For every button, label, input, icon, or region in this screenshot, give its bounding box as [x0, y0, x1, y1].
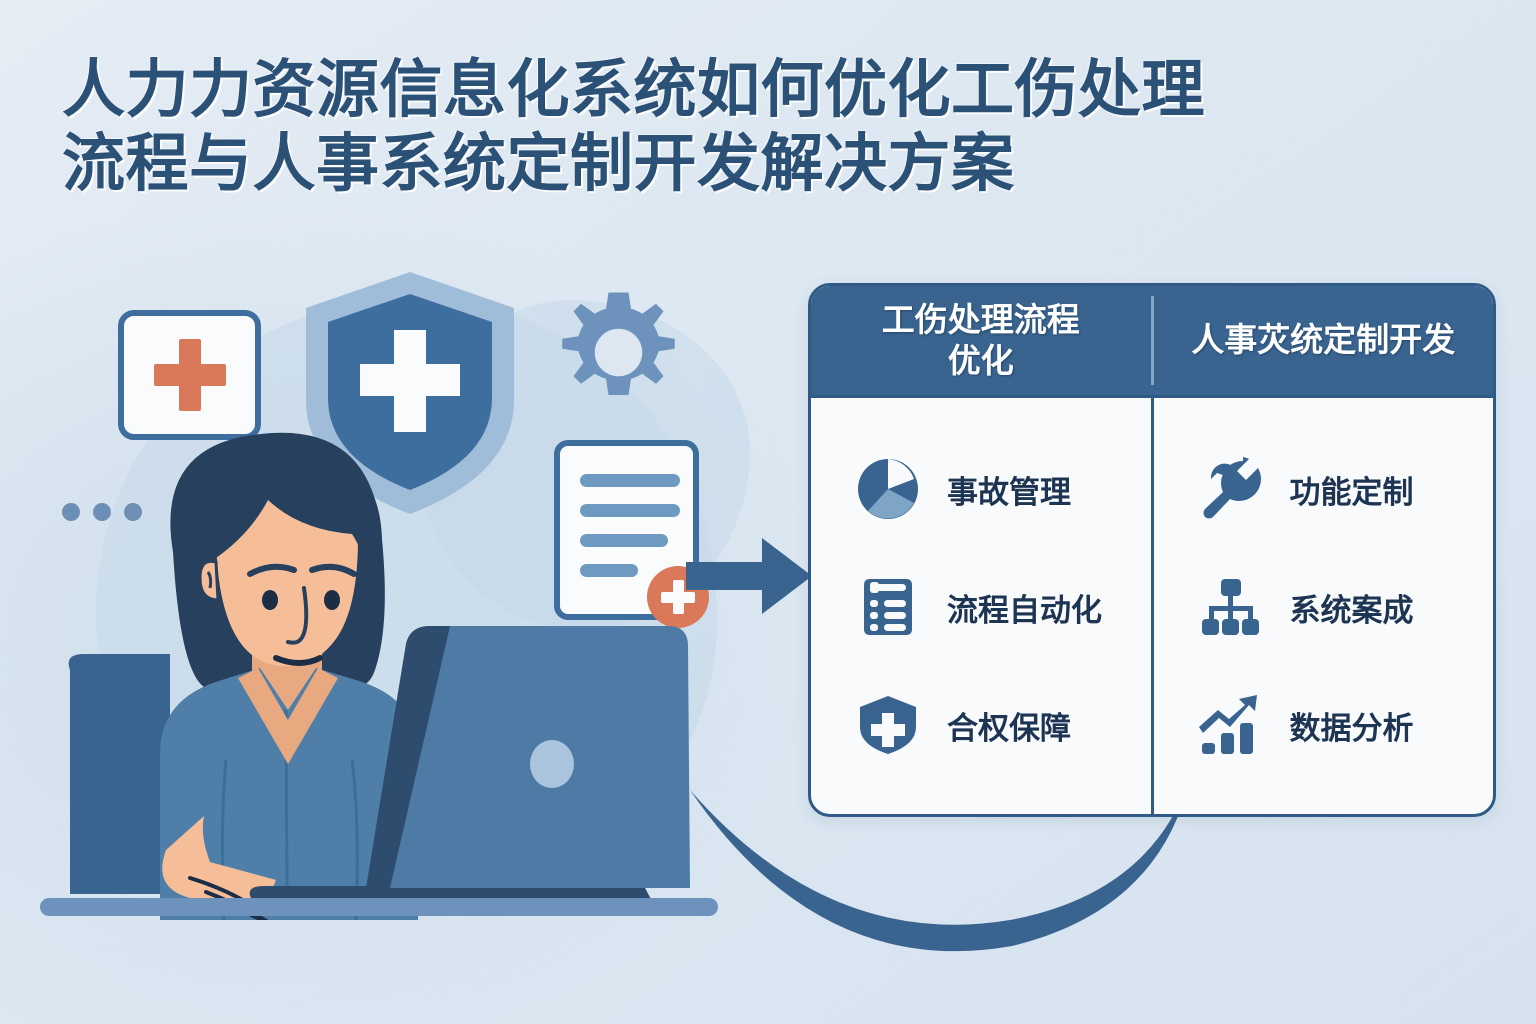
gear-svg [556, 290, 681, 415]
column-header-right: 人事苂统定制开发 [1154, 286, 1494, 395]
growth-chart-icon [1196, 690, 1266, 760]
summary-card: 工伤处理流程 优化 人事苂统定制开发 事故管理 [808, 283, 1496, 817]
pie-chart-icon [853, 454, 923, 524]
list-item[interactable]: 流程自动化 [811, 548, 1151, 666]
list-item-label: 功能定制 [1290, 467, 1414, 512]
list-item[interactable]: 数据分析 [1154, 666, 1494, 784]
list-item[interactable]: 功能定制 [1154, 430, 1494, 548]
list-item[interactable]: 合权保障 [811, 666, 1151, 784]
card-header: 工伤处理流程 优化 人事苂统定制开发 [811, 286, 1493, 398]
list-item[interactable]: 事故管理 [811, 430, 1151, 548]
list-item-label: 数据分析 [1290, 703, 1414, 748]
card-body: 事故管理 [811, 398, 1493, 817]
person-svg [40, 430, 740, 920]
org-chart-icon [1196, 572, 1266, 642]
column-header-left: 工伤处理流程 优化 [811, 286, 1151, 395]
header-divider [1151, 296, 1154, 385]
column-left: 事故管理 [811, 398, 1151, 817]
title-line-1: 人力力资源信息化系统如何优化工伤处理 [62, 55, 1205, 125]
checklist-icon [853, 572, 923, 642]
gear-icon [556, 290, 681, 415]
person-at-laptop-illustration [40, 430, 740, 920]
list-item[interactable]: 系统案成 [1154, 548, 1494, 666]
red-cross-glyph [154, 339, 226, 411]
list-item-label: 流程自动化 [947, 585, 1102, 630]
title-line-2: 流程与人事系统定制开发解决方案 [62, 129, 1015, 199]
medical-cross-card-icon [118, 310, 261, 440]
list-item-label: 合权保障 [947, 703, 1071, 748]
list-item-label: 事故管理 [947, 467, 1071, 512]
column-right: 功能定制 [1154, 398, 1494, 817]
wrench-icon [1196, 454, 1266, 524]
shield-plus-icon [853, 690, 923, 760]
infographic-canvas: 人力力资源信息化系统如何优化工伤处理 流程与人事系统定制开发解决方案 [0, 0, 1536, 1024]
list-item-label: 系统案成 [1290, 585, 1414, 630]
page-title: 人力力资源信息化系统如何优化工伤处理 流程与人事系统定制开发解决方案 [62, 54, 1482, 201]
